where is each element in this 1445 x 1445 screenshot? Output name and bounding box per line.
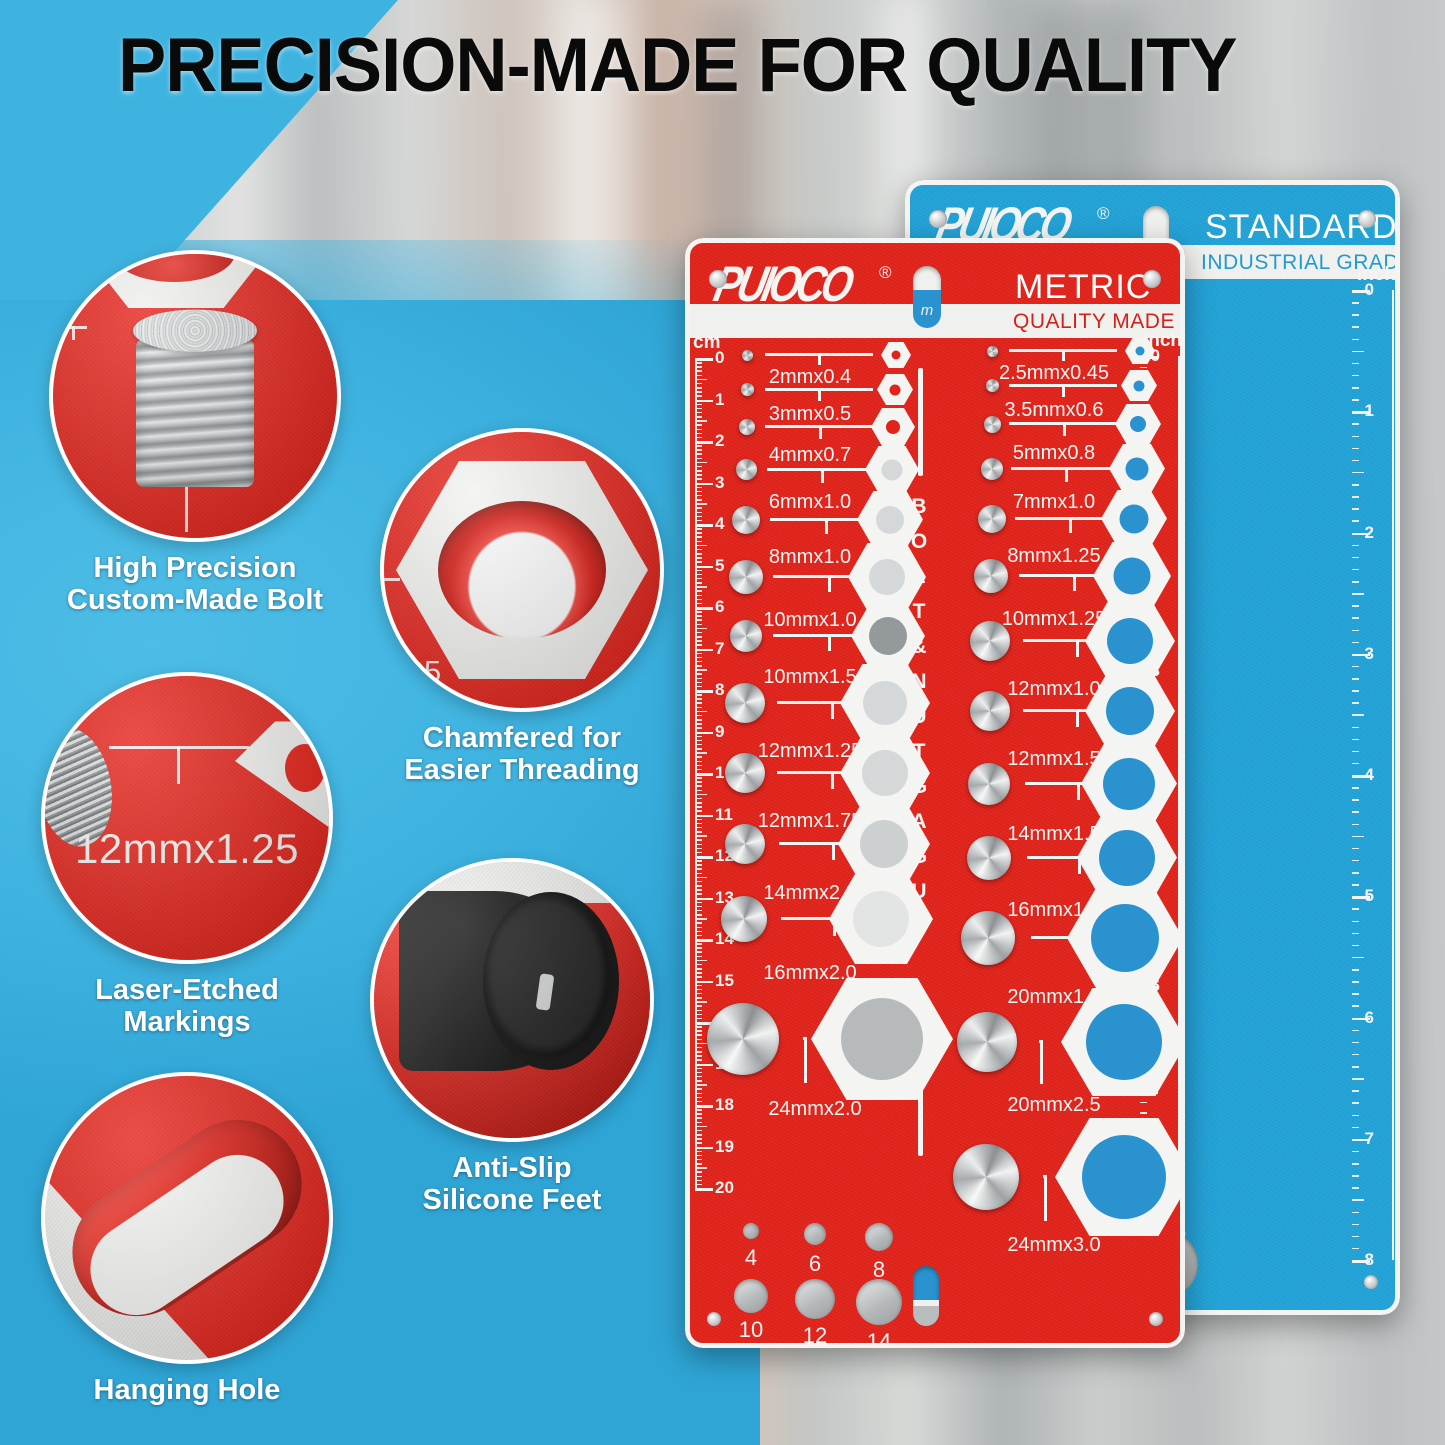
feature-bubble-chamfer: 5 xyxy=(380,428,664,712)
nut-hex-outline xyxy=(1115,404,1161,444)
bolt-head-sample xyxy=(986,379,999,392)
bolt-head-sample xyxy=(984,416,1001,433)
red-drill-hole-chart: 468101214 xyxy=(685,1223,945,1348)
slot-dot xyxy=(913,1272,939,1290)
feature-caption-hanging: Hanging Hole xyxy=(32,1374,342,1406)
nut-hex-outline xyxy=(1061,988,1185,1096)
screw-bottom-left-red xyxy=(707,1312,721,1326)
chamfered-thread-hole xyxy=(438,501,606,639)
tee-vertical xyxy=(1069,517,1072,533)
nut-inner-hole xyxy=(1091,904,1159,972)
nut-inner-hole xyxy=(1103,758,1155,810)
bolt-head-sample xyxy=(987,346,998,357)
bolt-head-sample xyxy=(970,691,1010,731)
thread-row: 20mmx1.5 xyxy=(685,888,1185,988)
thread-row: 8mmx1.25 xyxy=(685,490,1185,547)
feature-bubble-feet xyxy=(370,858,654,1142)
feature-hanging-hole: Hanging Hole xyxy=(32,1072,342,1406)
nut-inner-hole xyxy=(1099,830,1155,886)
tee-vertical xyxy=(1076,639,1079,657)
drill-hole xyxy=(795,1279,835,1319)
size-tee-mark xyxy=(1039,1040,1043,1066)
bolt-head-sample xyxy=(968,763,1010,805)
thread-row: 2.5mmx0.45 xyxy=(685,338,1185,364)
thread-row: 5mmx0.8 xyxy=(685,404,1185,444)
product-feature-image: PRECISION-MADE FOR QUALITY High Precisio… xyxy=(0,0,1445,1445)
bolt-head-sample xyxy=(957,1012,1017,1072)
nut-inner-hole xyxy=(1082,1135,1166,1219)
metric-right-thread-rows: 2.5mmx0.453.5mmx0.65mmx0.87mmx1.08mmx1.2… xyxy=(685,238,1185,1348)
drill-hole xyxy=(856,1279,902,1325)
drill-hole xyxy=(734,1279,768,1313)
thread-size-label: 20mmx2.5 xyxy=(959,1094,1149,1117)
metric-gauge-plate: PUIOCO ® METRIC QUALITY MADE m cm0123456… xyxy=(685,238,1185,1348)
etch-tee-vertical xyxy=(177,746,180,784)
nut-inner-hole xyxy=(1126,457,1149,480)
feature-anti-slip-feet: Anti-Slip Silicone Feet xyxy=(362,858,662,1217)
slot-grey-bottom xyxy=(913,1306,939,1326)
drill-hole xyxy=(743,1223,759,1239)
nut-inner-hole xyxy=(1086,1004,1162,1080)
thread-row: 10mmx1.25 xyxy=(685,542,1185,610)
nut-inner-hole xyxy=(1120,504,1149,533)
nut-inner-hole xyxy=(1136,347,1145,356)
feature-caption-chamfer: Chamfered for Easier Threading xyxy=(372,722,672,787)
tee-vertical xyxy=(1077,782,1080,800)
tee-vertical xyxy=(1076,709,1079,727)
nut-inner-hole xyxy=(1107,618,1153,664)
feature-bubble-etch: 12mmx1.25 xyxy=(41,672,333,964)
nut-hex-outline xyxy=(1125,338,1155,364)
bolt-head-sample xyxy=(953,1144,1019,1210)
screw-bottom-right-blue xyxy=(1364,1275,1378,1289)
feature-bubble-bolt xyxy=(49,250,341,542)
tee-vertical xyxy=(1065,467,1068,482)
size-tee-mark xyxy=(1043,1175,1047,1201)
etch-tick-left-v xyxy=(72,326,75,340)
bottom-slot-red xyxy=(913,1266,939,1326)
thread-row: 3.5mmx0.6 xyxy=(685,370,1185,401)
bolt-head-sample xyxy=(970,621,1010,661)
screw-bottom-right-red xyxy=(1149,1312,1163,1326)
bolt-head-sample xyxy=(961,911,1015,965)
tee-vertical xyxy=(1063,422,1066,436)
tee-vertical xyxy=(1062,384,1065,397)
feature-laser-etched: 12mmx1.25 Laser-Etched Markings xyxy=(32,672,342,1039)
etched-digit-5: 5 xyxy=(424,654,441,690)
bolt-head-sample xyxy=(978,505,1006,533)
bolt-head-sample xyxy=(981,458,1003,480)
drill-hole-label: 14 xyxy=(839,1329,919,1348)
tee-vertical xyxy=(1040,1040,1043,1084)
bolt-thread-shank xyxy=(136,339,254,487)
thread-size-label: 24mmx3.0 xyxy=(959,1234,1149,1257)
drill-hole xyxy=(865,1223,893,1251)
bolt-head-sample xyxy=(967,836,1011,880)
bolt-head-top xyxy=(133,309,257,351)
drill-hole xyxy=(804,1223,826,1245)
feature-high-precision-bolt: High Precision Custom-Made Bolt xyxy=(40,250,350,617)
thread-row: 12mmx1.0 xyxy=(685,602,1185,680)
nut-hex-outline xyxy=(1121,370,1157,401)
feature-bubble-hanging xyxy=(41,1072,333,1364)
bolt-head-sample xyxy=(974,559,1008,593)
nut-hex-outline xyxy=(1085,602,1175,680)
nut-hex-outline xyxy=(1067,888,1183,988)
feature-chamfered-threading: 5 Chamfered for Easier Threading xyxy=(372,428,672,787)
feature-caption-feet: Anti-Slip Silicone Feet xyxy=(362,1152,662,1217)
nut-inner-hole xyxy=(1130,416,1146,432)
etched-size-text: 12mmx1.25 xyxy=(75,825,299,873)
thread-row: 12mmx1.5 xyxy=(685,672,1185,750)
page-title: PRECISION-MADE FOR QUALITY xyxy=(118,28,1296,104)
etch-mark-left xyxy=(384,578,400,581)
nut-hex-outline xyxy=(1081,742,1177,825)
thread-row: 7mmx1.0 xyxy=(685,444,1185,493)
tee-vertical xyxy=(1044,1175,1047,1221)
thread-row: 20mmx2.5 xyxy=(685,988,1185,1096)
nut-inner-hole xyxy=(1134,380,1145,391)
tee-vertical xyxy=(1062,349,1065,361)
thread-row: 14mmx1.5 xyxy=(685,742,1185,825)
tee-vertical xyxy=(1073,574,1076,591)
nut-hex-outline xyxy=(1085,672,1175,750)
feature-caption-etch: Laser-Etched Markings xyxy=(32,974,342,1039)
red-dot-facet xyxy=(285,744,325,792)
nut-inner-hole xyxy=(1114,558,1151,595)
size-tee-mark xyxy=(1011,467,1121,493)
nut-hex-outline xyxy=(1055,1118,1185,1236)
feature-caption-bolt: High Precision Custom-Made Bolt xyxy=(40,552,350,617)
thread-row: 24mmx3.0 xyxy=(685,1118,1185,1236)
nut-inner-hole xyxy=(1106,687,1154,735)
